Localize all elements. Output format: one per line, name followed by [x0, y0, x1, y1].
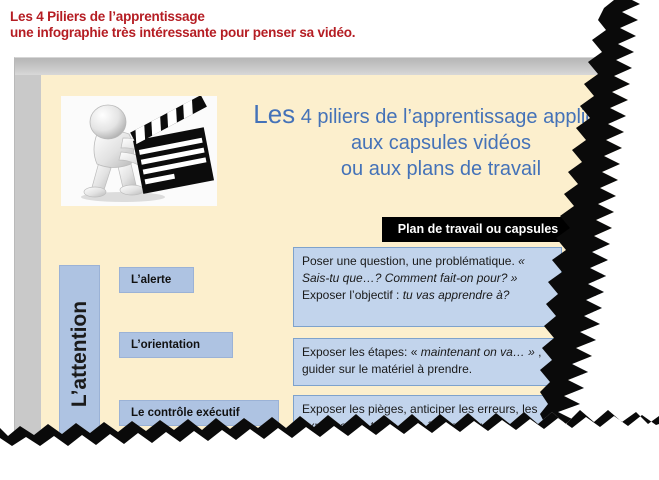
attention-pillar: L’attention: [59, 265, 100, 442]
right-note-varier-line-0: Varier vo: [581, 368, 629, 385]
clapperboard-figure-svg: [61, 96, 217, 206]
controle-description: Exposer les pièges, anticiper les erreur…: [293, 395, 562, 442]
alerte-description-segment-0: Poser une question, une problématique.: [302, 254, 518, 268]
controle-description-segment-0: Exposer les pièges, anticiper les erreur…: [302, 402, 537, 433]
alerte-description: Poser une question, une problématique. «…: [293, 247, 562, 327]
stage-label-alerte-text: L’alerte: [131, 274, 171, 286]
orientation-description-segment-1: maintenant on va… »: [421, 345, 535, 359]
infographic-frame: Les 4 piliers de l’apprentissage appliqu…: [14, 57, 629, 442]
infographic-title: Les 4 piliers de l’apprentissage appliqu…: [231, 101, 629, 182]
stage-label-controle-executif: Le contrôle exécutif: [119, 400, 279, 426]
stage-label-orientation: L’orientation: [119, 332, 233, 358]
clapperboard-figure-illustration: [61, 96, 217, 206]
page-title-line-1: Les 4 Piliers de l’apprentissage: [10, 9, 570, 25]
alerte-description-segment-3: tu vas apprendre à?: [403, 288, 510, 302]
stage-label-alerte: L’alerte: [119, 267, 194, 293]
infographic-title-line-3: ou aux plans de travail: [231, 156, 629, 182]
right-note-eviter-line-3: mobiles: [581, 304, 629, 321]
page-title-line-2: une infographie très intéressante pour p…: [10, 25, 570, 41]
right-note-eviter-line-2: personn: [581, 287, 629, 304]
right-note-varier-line-2: mobiles: [581, 402, 629, 419]
right-note-eviter-line-4: étapes,: [581, 321, 629, 338]
infographic-title-line-1: Les 4 piliers de l’apprentissage appliqu…: [231, 101, 629, 130]
infographic-title-line-2: aux capsules vidéos: [231, 130, 629, 156]
orientation-description: Exposer les étapes: « maintenant on va… …: [293, 338, 562, 386]
attention-pillar-label: L’attention: [68, 301, 92, 407]
alerte-description-segment-2: Exposer l’objectif :: [302, 288, 403, 302]
right-note-eviter-line-0: Eviter: [581, 253, 629, 270]
stage-label-controle-executif-text: Le contrôle exécutif: [131, 407, 240, 419]
right-note-eviter-line-1: théâtra: [581, 270, 629, 287]
page-title: Les 4 Piliers de l’apprentissage une inf…: [10, 9, 570, 41]
infographic-canvas: Les 4 piliers de l’apprentissage appliqu…: [41, 75, 629, 442]
infographic-title-line-1-rest: 4 piliers de l’apprentissage appliqués: [295, 106, 629, 128]
infographic-title-word-les: Les: [253, 99, 295, 129]
plan-de-travail-banner: Plan de travail ou capsules: [382, 217, 574, 242]
right-note-varier: Varier voprésenmobiles: [572, 362, 629, 426]
frame-top-bar: [15, 58, 629, 75]
orientation-description-segment-0: Exposer les étapes: «: [302, 345, 421, 359]
stage-label-orientation-text: L’orientation: [131, 339, 200, 351]
right-note-eviter: Eviterthéâtrapersonnmobilesétapes,: [572, 247, 629, 343]
right-note-varier-line-1: présen: [581, 385, 629, 402]
